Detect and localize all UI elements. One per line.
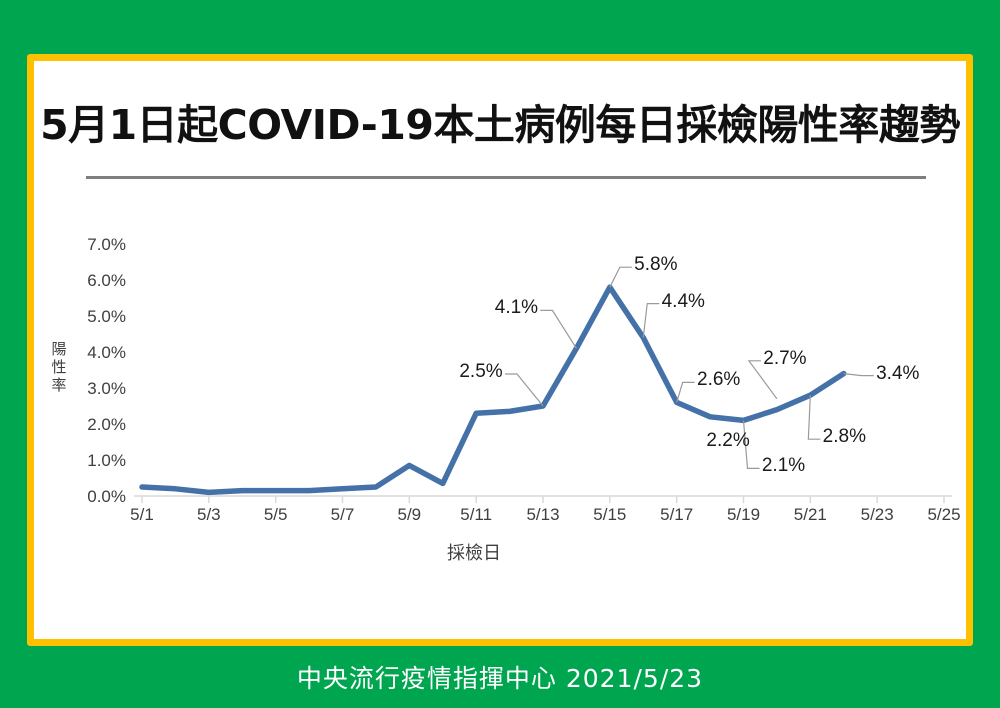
leader-line <box>540 310 576 348</box>
x-tick-label: 5/11 <box>446 505 506 525</box>
data-label: 2.8% <box>823 426 866 448</box>
data-label: 3.4% <box>876 363 919 385</box>
data-label: 2.6% <box>697 369 740 391</box>
leader-line <box>643 304 659 338</box>
x-tick-label: 5/1 <box>112 505 172 525</box>
x-tick-label: 5/17 <box>647 505 707 525</box>
x-tick-label: 5/9 <box>379 505 439 525</box>
data-label: 4.1% <box>495 297 538 319</box>
x-tick-label: 5/3 <box>179 505 239 525</box>
x-axis-title: 採檢日 <box>34 539 914 565</box>
content-card-inner: 5月1日起COVID-19本土病例每日採檢陽性率趨勢 陽性率 7.0% 6.0%… <box>34 61 966 639</box>
leader-line <box>677 382 695 402</box>
x-tick-label: 5/5 <box>246 505 306 525</box>
content-card: 5月1日起COVID-19本土病例每日採檢陽性率趨勢 陽性率 7.0% 6.0%… <box>27 54 973 646</box>
chart-plot-area: 陽性率 7.0% 6.0% 5.0% 4.0% 3.0% 2.0% 1.0% 0… <box>34 61 966 639</box>
x-tick-label: 5/23 <box>847 505 907 525</box>
footer-bar: 中央流行疫情指揮中心 2021/5/23 <box>0 646 1000 708</box>
leader-line <box>808 395 820 439</box>
x-tick-label: 5/13 <box>513 505 573 525</box>
data-label: 5.8% <box>634 254 677 276</box>
x-tick-label: 5/19 <box>714 505 774 525</box>
x-tick-label: 5/25 <box>914 505 974 525</box>
data-label: 2.7% <box>763 348 806 370</box>
leader-line <box>505 374 543 406</box>
slide-root: 5月1日起COVID-19本土病例每日採檢陽性率趨勢 陽性率 7.0% 6.0%… <box>0 0 1000 708</box>
leader-line <box>610 267 632 287</box>
leader-line <box>844 374 874 376</box>
data-label: 2.5% <box>459 361 502 383</box>
data-label: 2.1% <box>762 455 805 477</box>
x-tick-label: 5/21 <box>780 505 840 525</box>
x-tick-label: 5/15 <box>580 505 640 525</box>
footer-text: 中央流行疫情指揮中心 2021/5/23 <box>297 659 703 695</box>
data-label: 2.2% <box>706 430 749 452</box>
x-axis-tick-marks <box>142 496 944 503</box>
x-tick-label: 5/7 <box>313 505 373 525</box>
data-label: 4.4% <box>662 291 705 313</box>
